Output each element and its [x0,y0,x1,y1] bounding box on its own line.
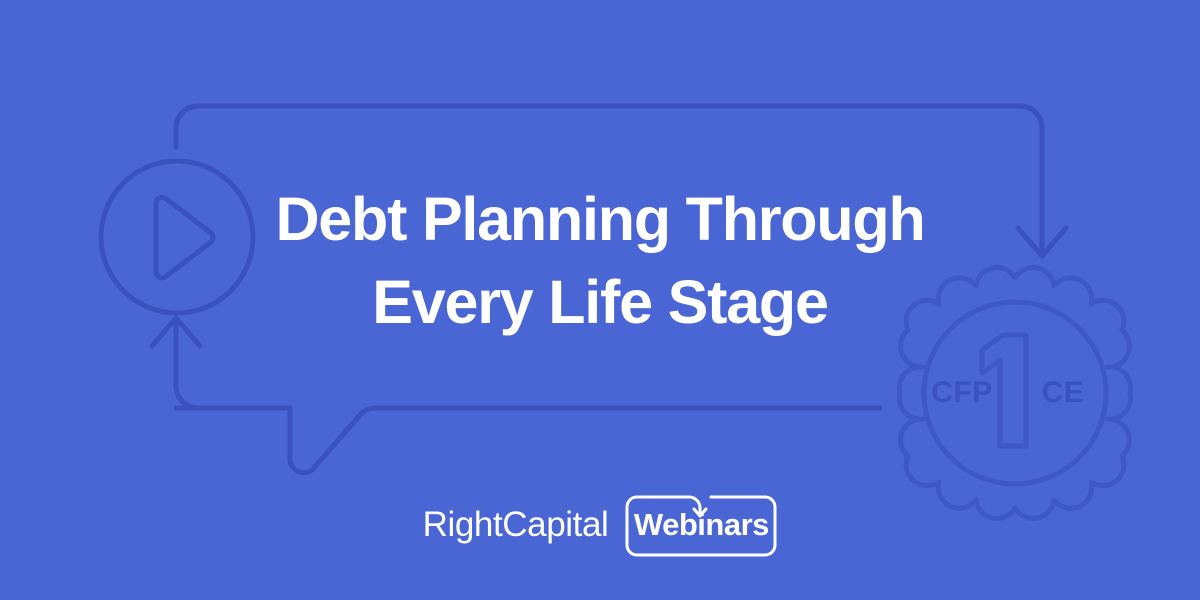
title-line-2: Every Life Stage [255,261,945,344]
webinars-chip-label: Webinars [625,495,777,553]
webinars-chip: Webinars [625,495,777,553]
title-line-1: Debt Planning Through [255,178,945,261]
webinar-promo-card: CFP CE Debt Planning Through Every Life … [0,0,1200,600]
rightcapital-wordmark: RightCapital [423,507,609,542]
brand-lockup: RightCapital Webinars [0,493,1200,555]
page-title: Debt Planning Through Every Life Stage [255,178,945,344]
